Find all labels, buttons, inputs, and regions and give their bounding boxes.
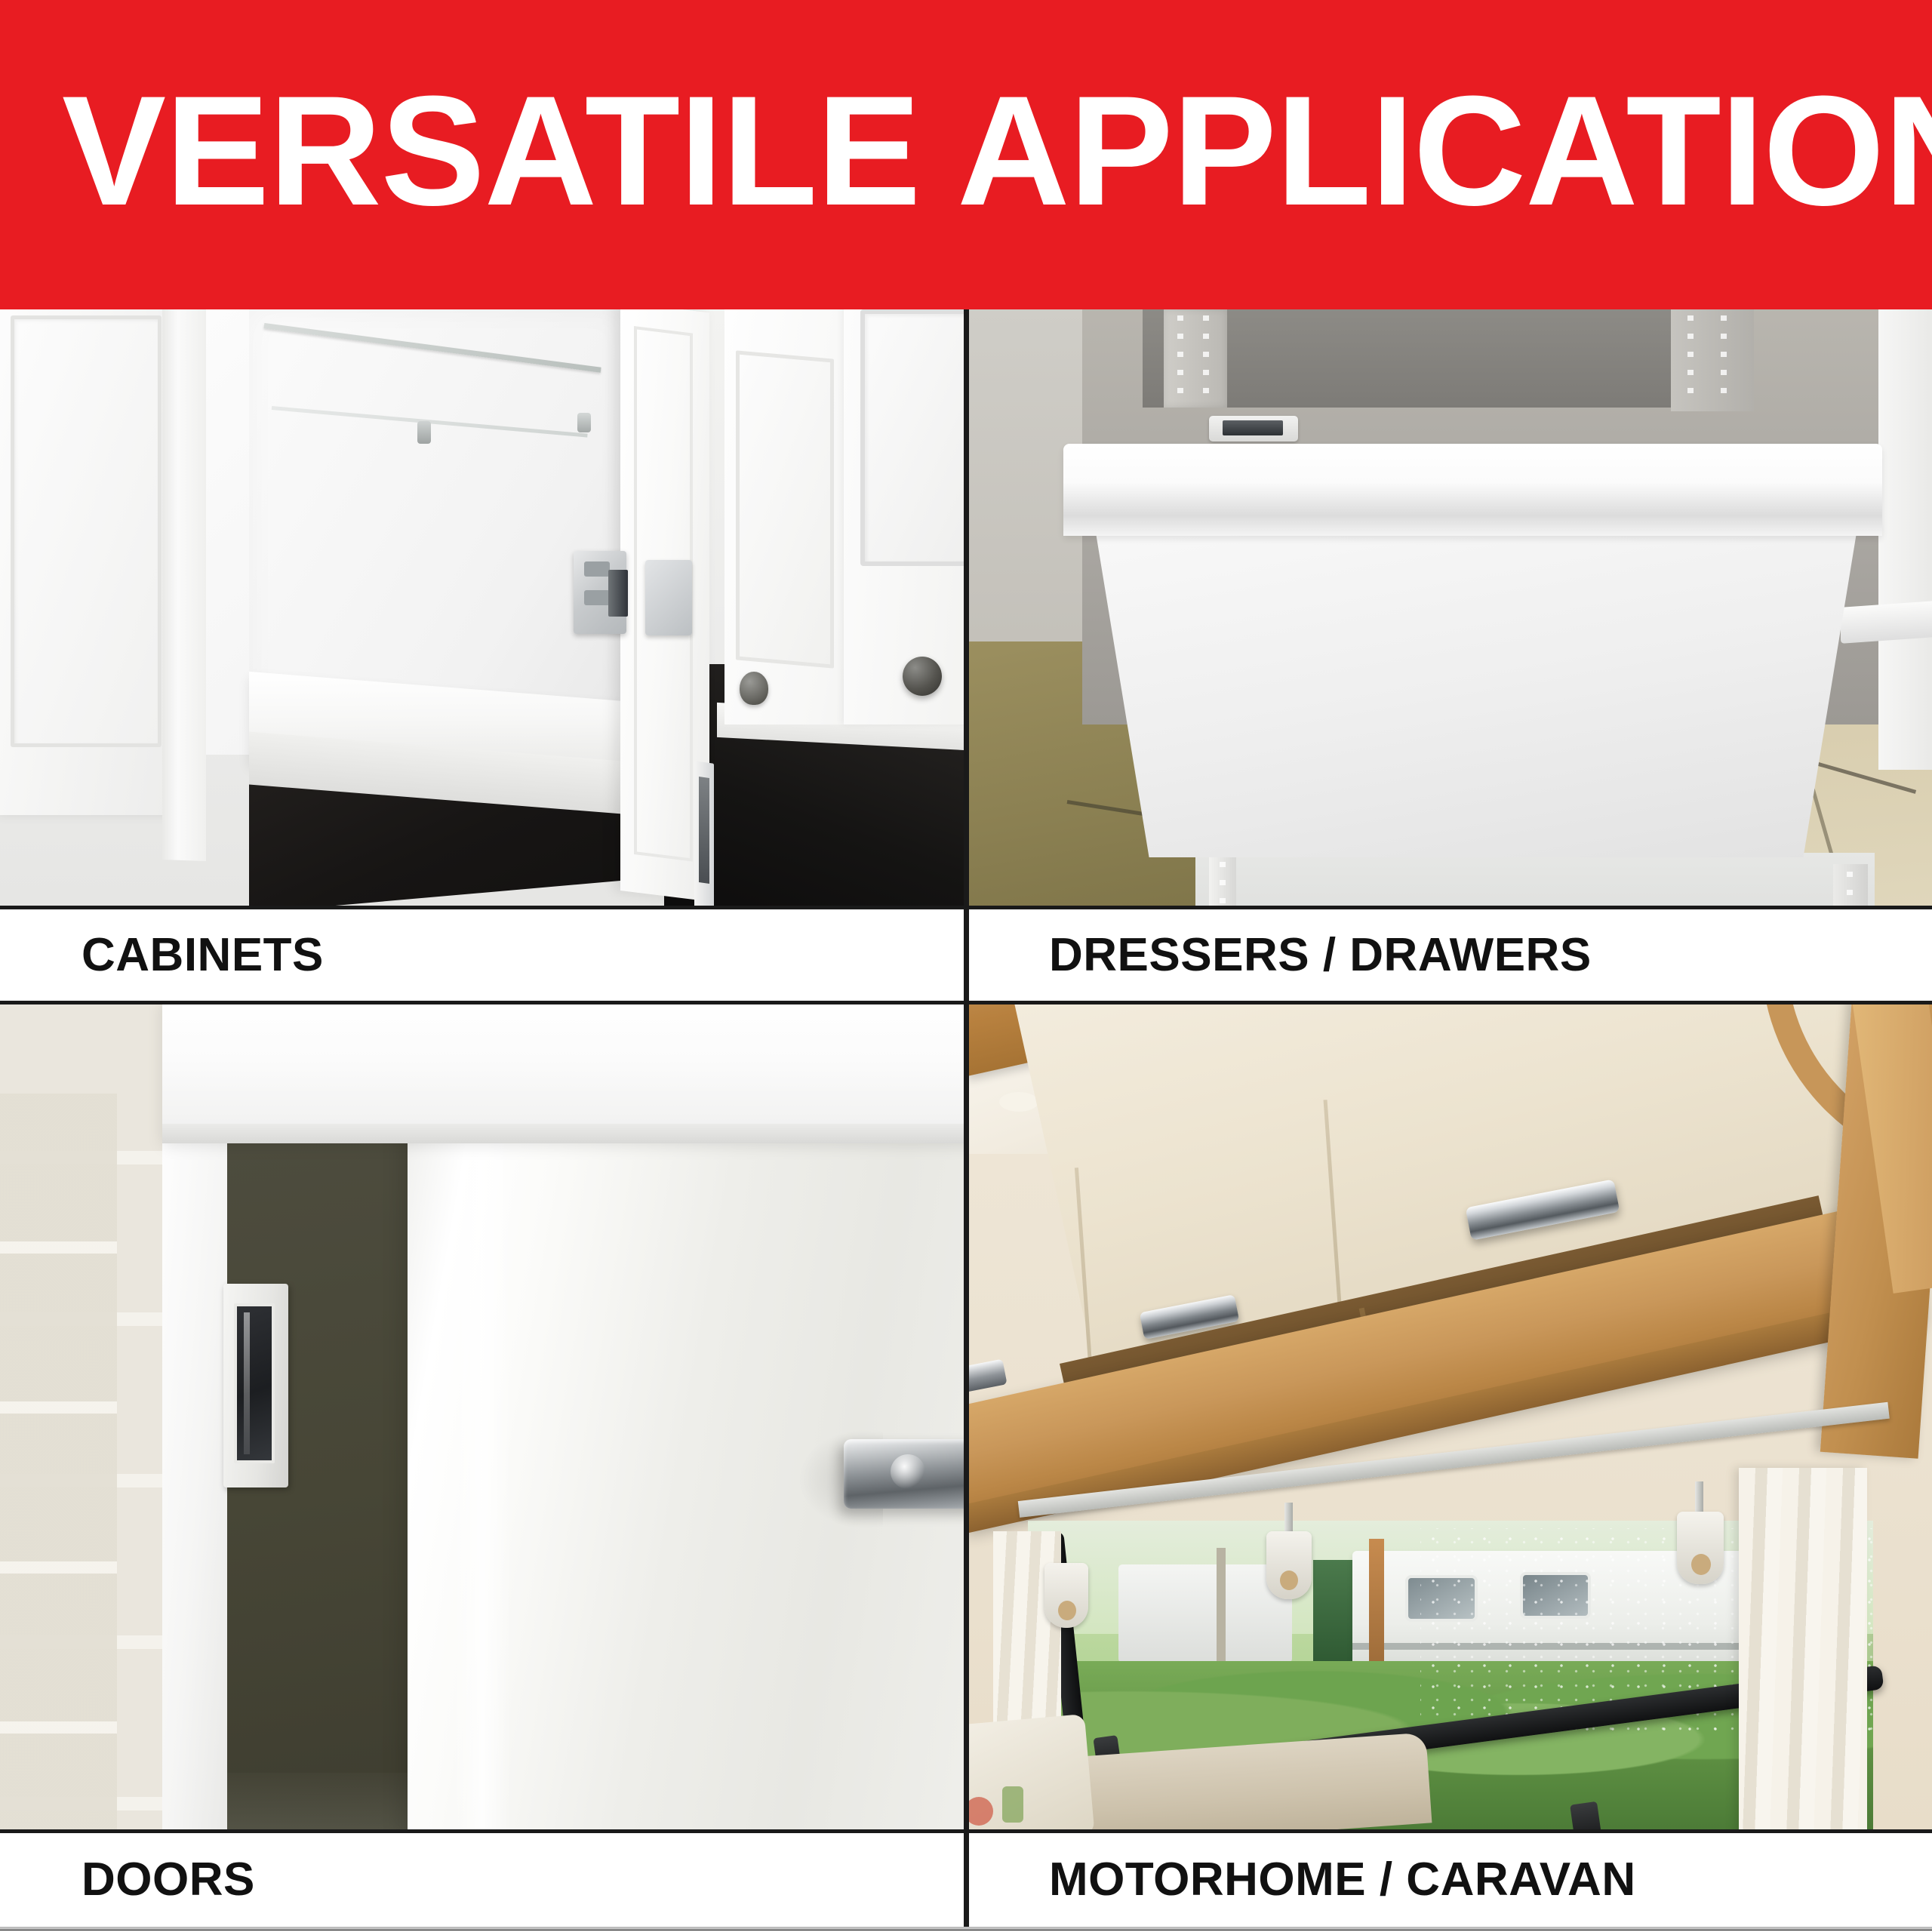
window-tree-trunk	[1369, 1539, 1384, 1675]
blind-clip-3	[1677, 1512, 1724, 1584]
ceiling-light-1	[999, 1092, 1038, 1112]
carcase-interior	[1143, 309, 1716, 408]
perforation-column-lower-right	[1847, 872, 1853, 908]
upper-drawer-sensor-clip	[1209, 416, 1298, 441]
bottom-hairline	[0, 1927, 1932, 1930]
cabinet-back-wall	[249, 309, 626, 717]
handle-gloss-reflection	[891, 1454, 925, 1489]
locker-handle-far-left	[969, 1359, 1008, 1395]
panel-dressers-drawers	[969, 309, 1932, 908]
perforation-column-left	[1177, 315, 1183, 400]
concealed-hinge-mounting-plate	[645, 560, 692, 635]
right-cabinet-door	[844, 309, 964, 724]
perforation-column-right-2	[1721, 315, 1727, 405]
perforation-column-left-2	[1203, 315, 1209, 400]
door-opening-gap	[223, 1143, 411, 1832]
cabinet-knob	[903, 657, 942, 696]
open-drawer-cavity	[1195, 853, 1875, 908]
panel-doors	[0, 1003, 964, 1832]
cabinets-photo	[0, 309, 964, 908]
perforation-column-right	[1687, 315, 1694, 405]
label-motorhome-caravan: MOTORHOME / CARAVAN	[1049, 1857, 1636, 1903]
curtain-right	[1739, 1468, 1867, 1832]
divider-vertical-top	[964, 309, 969, 1004]
panel-motorhome-caravan	[969, 1003, 1932, 1832]
tiled-wall-inner	[0, 1094, 117, 1832]
motorhome-caravan-photo	[969, 1003, 1932, 1832]
rail-bracket-right	[577, 413, 591, 432]
overhead-cabinet-bottom-edge	[162, 1124, 964, 1143]
adjacent-cabinet-panel	[736, 350, 834, 668]
perforated-slide-rail-left	[1164, 309, 1227, 408]
doors-photo	[0, 1003, 964, 1832]
cabinet-knob-secondary	[740, 672, 768, 705]
divider-vertical-bottom	[964, 1004, 969, 1930]
hinge-arm	[608, 570, 628, 617]
rail-bracket-left	[417, 421, 431, 444]
blind-clip-2	[1266, 1531, 1312, 1599]
door-jamb	[162, 1137, 227, 1832]
upper-drawer-front	[1096, 533, 1857, 857]
pillow-pattern-2	[1002, 1786, 1023, 1823]
adjacent-cabinet-side	[1878, 309, 1932, 770]
panel-cabinets	[0, 309, 964, 908]
perforation-column-lower-left	[1220, 862, 1226, 908]
header-banner: VERSATILE APPLICATION	[0, 0, 1932, 309]
label-cabinets: CABINETS	[82, 932, 324, 979]
application-grid: CABINETS DRESSERS / DRAWERS DOORS MOTORH…	[0, 309, 1932, 1932]
left-cabinet-door	[0, 309, 181, 815]
door-opening-floor-sheen	[223, 1773, 411, 1832]
lower-slide-rail-right	[1833, 864, 1868, 908]
overhead-cabinet	[162, 1003, 964, 1139]
left-cabinet-door-edge	[162, 309, 206, 861]
label-dressers-drawers: DRESSERS / DRAWERS	[1049, 932, 1592, 979]
window-pole	[1217, 1548, 1226, 1661]
versatile-application-infographic: VERSATILE APPLICATION	[0, 0, 1932, 1932]
blind-clip-1	[1044, 1563, 1088, 1628]
perforated-slide-rail-right	[1671, 309, 1754, 411]
label-doors: DOORS	[82, 1857, 255, 1903]
dressers-drawers-photo	[969, 309, 1932, 908]
page-title: VERSATILE APPLICATION	[62, 68, 1932, 234]
adjacent-drawer-ledge	[1841, 600, 1932, 644]
door-lower-hinge-plate	[694, 761, 714, 908]
upper-drawer-top-lip	[1063, 444, 1882, 536]
striker-plate-sensor	[234, 1303, 275, 1463]
lower-slide-rail-left	[1209, 854, 1236, 908]
door-specular-highlight	[453, 1124, 512, 1832]
